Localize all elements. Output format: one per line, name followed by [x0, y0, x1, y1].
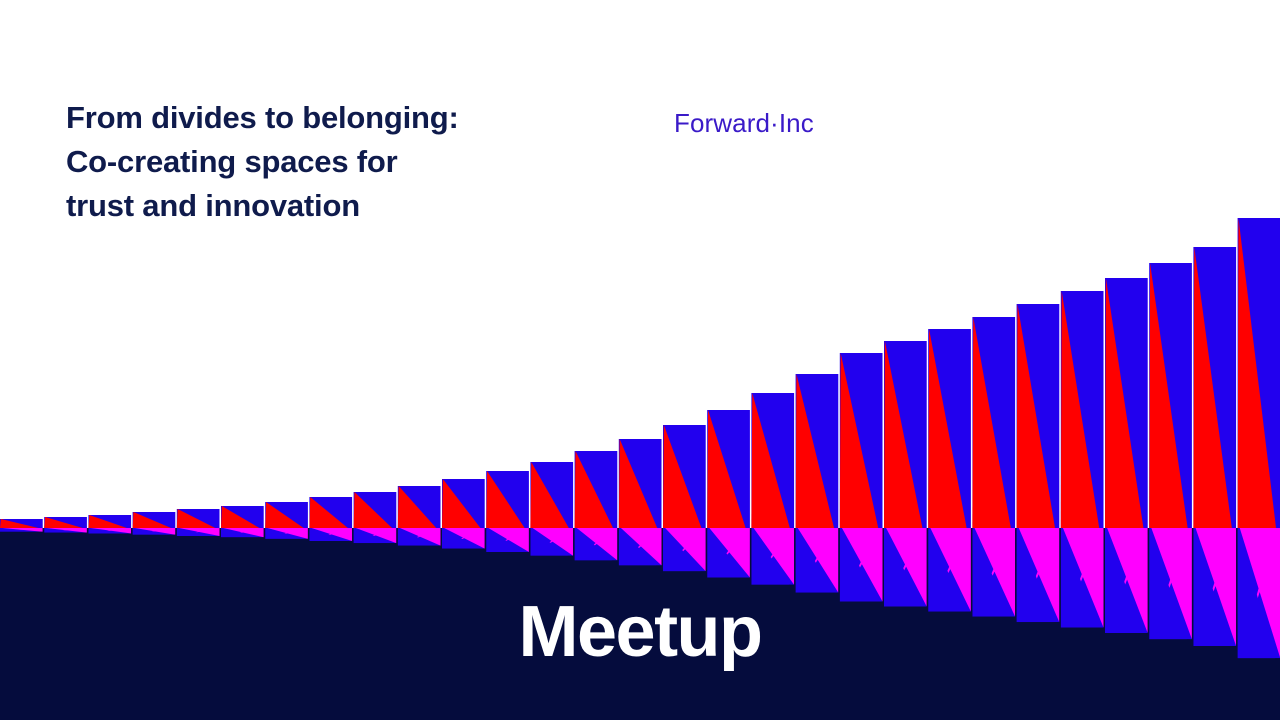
bar-upper-red-wedge — [972, 317, 1010, 528]
bar-upper-red-wedge — [663, 425, 701, 528]
bar-upper-blue — [1061, 291, 1104, 528]
bar-upper-blue — [1105, 278, 1148, 528]
bar-upper-blue — [265, 502, 308, 528]
event-label: Meetup — [0, 592, 1280, 672]
bar-upper-red-wedge — [354, 492, 392, 528]
bar-upper-red-wedge — [1105, 278, 1143, 528]
bar-upper-blue — [928, 329, 971, 528]
bar-upper-red-wedge — [619, 439, 657, 528]
bar-upper-blue — [972, 317, 1015, 528]
bar-upper-blue — [44, 517, 87, 528]
bar-upper-red-wedge — [1149, 263, 1187, 528]
bar-upper-blue — [1017, 304, 1060, 528]
bar-upper-red-wedge — [88, 515, 126, 528]
page-title: From divides to belonging: Co-creating s… — [66, 96, 586, 228]
bar-upper-blue — [884, 341, 927, 528]
bar-upper-red-wedge — [751, 393, 789, 528]
bar-upper-red-wedge — [398, 486, 436, 528]
bar-upper-blue — [221, 506, 264, 528]
bar-upper-red-wedge — [442, 479, 480, 528]
bar-upper-red-wedge — [177, 509, 215, 528]
bar-upper-red-wedge — [265, 502, 303, 528]
bar-upper-blue — [1193, 247, 1236, 528]
bar-upper-blue — [1238, 218, 1280, 528]
bar-upper-red-wedge — [309, 497, 347, 528]
bar-upper-red-wedge — [44, 517, 82, 528]
bar-upper-blue — [1149, 263, 1192, 528]
bar-upper-blue — [309, 497, 352, 528]
bar-upper-blue — [133, 512, 176, 528]
bar-upper-red-wedge — [0, 519, 38, 528]
bar-upper-red-wedge — [530, 462, 568, 528]
page-title-line-2: Co-creating spaces for — [66, 140, 586, 184]
bar-upper-blue — [707, 410, 750, 528]
bar-upper-blue — [442, 479, 485, 528]
page-title-line-3: trust and innovation — [66, 184, 586, 228]
bar-upper-blue — [530, 462, 573, 528]
bar-upper-blue — [751, 393, 794, 528]
bar-upper-red-wedge — [1017, 304, 1055, 528]
bar-upper-blue — [663, 425, 706, 528]
bar-upper-red-wedge — [486, 471, 524, 528]
bar-upper-blue — [398, 486, 441, 528]
bar-upper-red-wedge — [884, 341, 922, 528]
slide-canvas: From divides to belonging: Co-creating s… — [0, 0, 1280, 720]
bar-upper-blue — [177, 509, 220, 528]
bar-upper-red-wedge — [221, 506, 259, 528]
bar-upper-red-wedge — [575, 451, 613, 528]
bar-upper-blue — [0, 519, 43, 528]
page-title-line-1: From divides to belonging: — [66, 96, 586, 140]
bar-upper-red-wedge — [707, 410, 745, 528]
brand-logo: Forward·Inc — [674, 108, 814, 139]
bar-upper-blue — [575, 451, 618, 528]
bar-upper-blue — [796, 374, 839, 528]
bar-upper-blue — [486, 471, 529, 528]
bar-upper-blue — [840, 353, 883, 528]
bar-upper-red-wedge — [796, 374, 834, 528]
bar-upper-red-wedge — [928, 329, 966, 528]
bar-upper-blue — [354, 492, 397, 528]
bar-upper-red-wedge — [1193, 247, 1231, 528]
bar-upper-red-wedge — [133, 512, 171, 528]
bar-upper-blue — [88, 515, 131, 528]
bar-upper-red-wedge — [840, 353, 878, 528]
bar-upper-red-wedge — [1238, 218, 1276, 528]
bar-upper-red-wedge — [1061, 291, 1099, 528]
bar-upper-blue — [619, 439, 662, 528]
